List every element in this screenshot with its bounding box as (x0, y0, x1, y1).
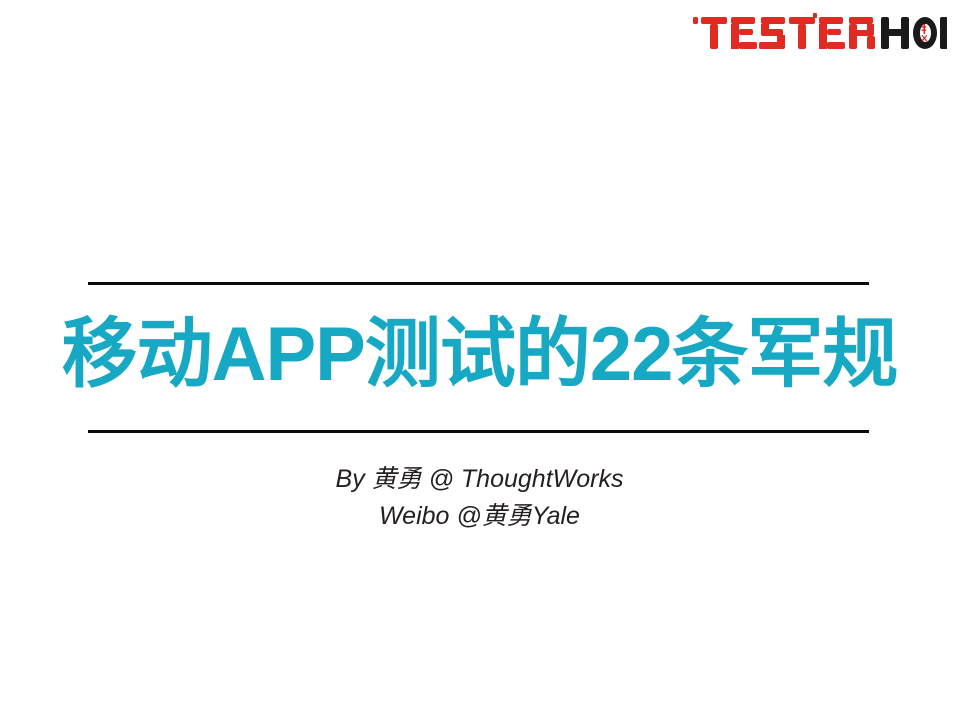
weibo-handle: Weibo @黄勇Yale (0, 498, 959, 535)
logo-inner-accent-mark (921, 24, 927, 41)
top-divider (88, 282, 869, 285)
author-byline: By 黄勇 @ ThoughtWorks (0, 461, 959, 498)
testerhome-logo[interactable] (693, 11, 947, 55)
slide-canvas: 移动APP测试的22条军规 By 黄勇 @ ThoughtWorks Weibo… (0, 0, 959, 720)
logo-tester-group (693, 13, 875, 49)
page-title: 移动APP测试的22条军规 (0, 307, 959, 403)
bottom-divider (88, 430, 869, 433)
testerhome-logo-graphic (693, 11, 947, 55)
subtitle-block: By 黄勇 @ ThoughtWorks Weibo @黄勇Yale (0, 461, 959, 535)
logo-home-group (881, 17, 947, 49)
